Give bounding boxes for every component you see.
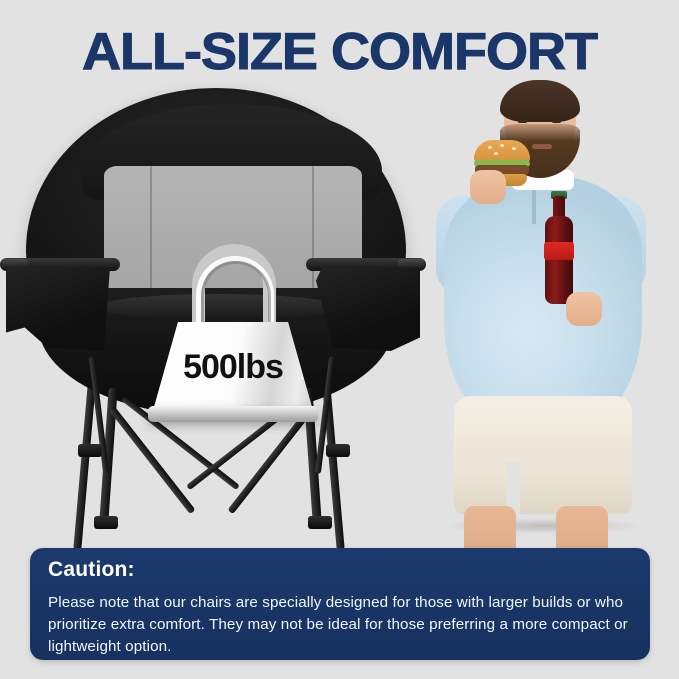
burger-bun-top bbox=[474, 140, 530, 162]
model-hair bbox=[500, 80, 580, 122]
model-shorts bbox=[454, 396, 632, 514]
model-eye-right bbox=[552, 120, 561, 123]
model-hand-right bbox=[566, 292, 602, 326]
armrest-fabric-flap bbox=[6, 267, 110, 351]
marketing-image-canvas: ALL-SIZE COMFORT bbox=[0, 0, 679, 679]
weight-handle-icon bbox=[192, 244, 276, 330]
bottle-body bbox=[545, 216, 573, 304]
chair-foot-front-right bbox=[308, 516, 332, 529]
weight-capacity-badge: 500lbs bbox=[148, 244, 318, 424]
model-hand-left bbox=[470, 170, 506, 204]
chair-foot-front-left bbox=[94, 516, 118, 529]
armrest-fabric-flap bbox=[316, 267, 420, 351]
weight-base bbox=[148, 406, 318, 422]
chair-foot-rear-left bbox=[78, 444, 102, 457]
model-mouth bbox=[532, 144, 552, 149]
product-chair-illustration: 500lbs bbox=[8, 88, 428, 538]
caution-body-text: Please note that our chairs are speciall… bbox=[48, 592, 636, 658]
model-torso-polo-shirt bbox=[444, 176, 642, 428]
chair-foot-rear-right bbox=[326, 444, 350, 457]
caution-box: Caution: Please note that our chairs are… bbox=[30, 548, 650, 660]
model-eye-left bbox=[518, 120, 527, 123]
chair-armrest-left bbox=[0, 258, 120, 354]
caution-title: Caution: bbox=[48, 558, 135, 582]
model-photo bbox=[420, 78, 670, 540]
cola-bottle-icon bbox=[544, 196, 574, 304]
weight-capacity-label: 500lbs bbox=[148, 348, 318, 387]
page-title: ALL-SIZE COMFORT bbox=[0, 22, 679, 82]
chair-armrest-right bbox=[306, 258, 426, 354]
bottle-label bbox=[544, 242, 574, 260]
